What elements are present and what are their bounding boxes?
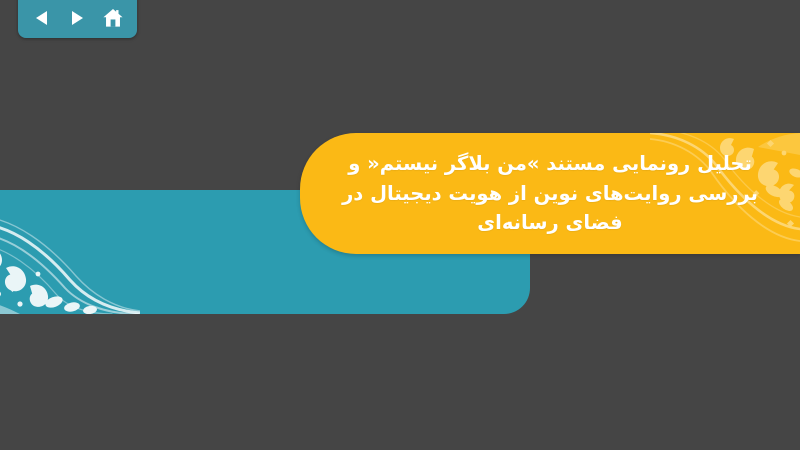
title-line-3: فضای رسانه‌ای — [477, 208, 622, 238]
arabesque-ornament-teal — [0, 190, 140, 314]
presentation-slide: تحلیل رونمایی مستند »من بلاگر نیستم« و ب… — [0, 0, 800, 450]
title-line-1: تحلیل رونمایی مستند »من بلاگر نیستم« و — [348, 149, 752, 179]
forward-icon — [67, 8, 87, 28]
title-line-2: بررسی روایت‌های نوین از هویت دیجیتال در — [342, 179, 758, 209]
back-icon — [32, 8, 52, 28]
back-button[interactable] — [27, 4, 57, 32]
forward-button[interactable] — [62, 4, 92, 32]
navigation-toolbar — [18, 0, 137, 38]
home-button[interactable] — [98, 4, 128, 32]
slide-title: تحلیل رونمایی مستند »من بلاگر نیستم« و ب… — [300, 133, 800, 254]
home-icon — [102, 7, 124, 29]
